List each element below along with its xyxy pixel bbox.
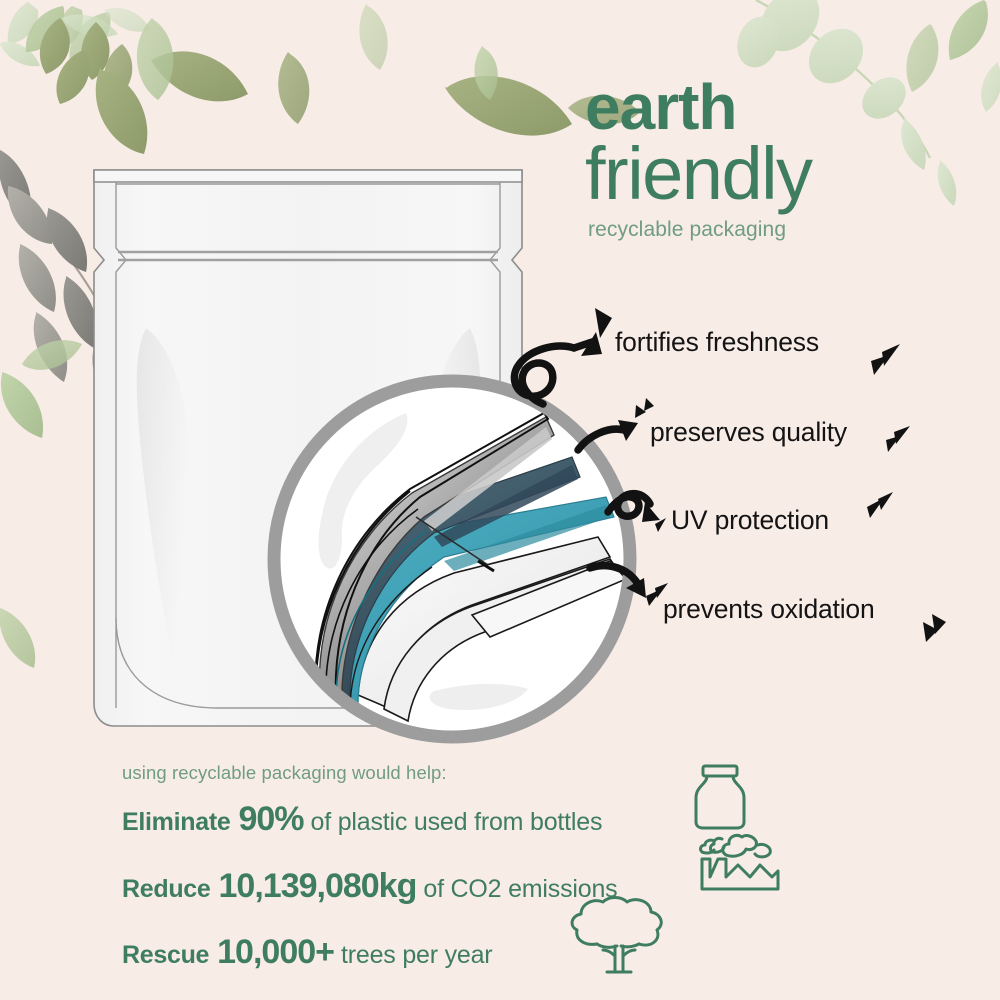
- stat-tail: of plastic used from bottles: [311, 808, 603, 837]
- headline-line-1: earth: [585, 78, 985, 137]
- factory-icon: [696, 833, 784, 895]
- arrow-head-0: [581, 332, 602, 356]
- leaf-olive-large-b: [96, 68, 148, 154]
- leaf-float-b: [359, 4, 387, 70]
- stat-value: 10,139,080kg: [219, 867, 417, 906]
- stat-value: 90%: [238, 800, 303, 839]
- leaf-sprig-pale-topleft: [0, 2, 83, 66]
- poster-canvas: earth friendly recyclable packaging fort…: [0, 0, 1000, 1000]
- headline-block: earth friendly recyclable packaging: [585, 78, 985, 242]
- leaf-cluster-olive-topleft: [26, 6, 150, 104]
- leaf-sage-a: [137, 18, 173, 100]
- stat-value: 10,000+: [217, 933, 334, 972]
- stat-verb: Rescue: [122, 941, 209, 970]
- feature-label-prevents-oxidation: prevents oxidation: [663, 594, 874, 625]
- stat-tail: trees per year: [341, 941, 492, 970]
- pouch-top-seal: [94, 170, 522, 182]
- film-cross-section-magnifier: [258, 365, 646, 753]
- stat-verb: Eliminate: [122, 808, 230, 837]
- leaf-olive-center: [444, 76, 572, 136]
- stat-row: Rescue 10,000+ trees per year: [122, 933, 842, 972]
- leaf-float-c: [474, 46, 497, 100]
- tree-icon: [563, 896, 675, 978]
- stat-verb: Reduce: [122, 875, 211, 904]
- headline-line-2: friendly: [585, 139, 985, 209]
- headline-subtitle: recyclable packaging: [585, 218, 985, 242]
- leaf-float-a: [278, 52, 309, 124]
- feature-label-fortifies-freshness: fortifies freshness: [615, 327, 819, 358]
- feature-label-preserves-quality: preserves quality: [650, 417, 847, 448]
- leaf-olive-large-a: [150, 51, 248, 101]
- spark-marks: [595, 308, 946, 642]
- feature-label-uv-protection: UV protection: [671, 505, 829, 536]
- bottle-icon: [688, 762, 752, 832]
